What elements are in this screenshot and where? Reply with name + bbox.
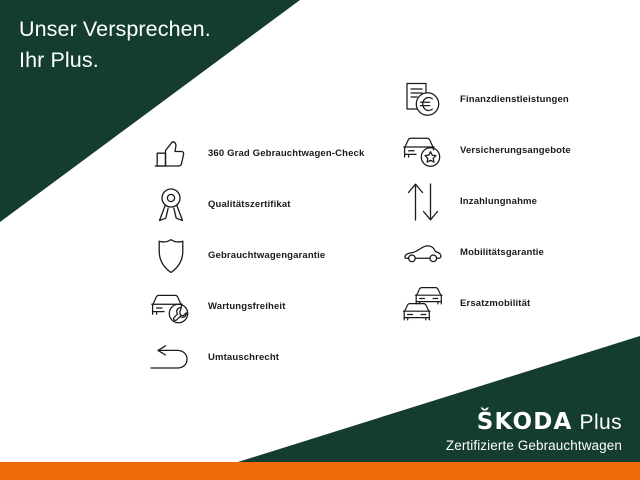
car-wrench-icon <box>148 285 194 329</box>
feature-label: Qualitätszertifikat <box>208 199 291 210</box>
feature-item-replacement: Ersatzmobilität <box>400 278 571 329</box>
feature-label: Ersatzmobilität <box>460 298 530 309</box>
document-euro-icon <box>400 78 446 122</box>
brand-plus-label: Plus <box>580 412 622 433</box>
headline-line-2: Ihr Plus. <box>19 45 319 76</box>
feature-label: Mobilitätsgarantie <box>460 247 544 258</box>
up-down-arrows-icon <box>400 180 446 224</box>
feature-label: Umtauschrecht <box>208 352 279 363</box>
feature-label: 360 Grad Gebrauchtwagen-Check <box>208 148 364 159</box>
brand-subtitle: Zertifizierte Gebrauchtwagen <box>446 439 622 453</box>
feature-label: Gebrauchtwagengarantie <box>208 250 325 261</box>
feature-label: Finanzdienstleistungen <box>460 94 569 105</box>
feature-item-check: 360 Grad Gebrauchtwagen-Check <box>148 128 364 179</box>
promo-banner: Unser Versprechen. Ihr Plus. 360 Grad Ge… <box>0 0 640 480</box>
feature-item-mobility: Mobilitätsgarantie <box>400 227 571 278</box>
page-title: Unser Versprechen. Ihr Plus. <box>19 14 319 76</box>
quality-seal-icon <box>148 183 194 227</box>
feature-item-warranty: Gebrauchtwagengarantie <box>148 230 364 281</box>
feature-item-insurance: Versicherungsangebote <box>400 125 571 176</box>
thumbs-up-icon <box>148 132 194 176</box>
feature-label: Inzahlungnahme <box>460 196 537 207</box>
feature-item-quality: Qualitätszertifikat <box>148 179 364 230</box>
feature-item-tradein: Inzahlungnahme <box>400 176 571 227</box>
feature-list-left: 360 Grad Gebrauchtwagen-Check Qualitätsz… <box>148 128 364 383</box>
skoda-wordmark: ŠKODA <box>477 411 573 434</box>
feature-item-financing: Finanzdienstleistungen <box>400 74 571 125</box>
brand-lockup: ŠKODA Plus Zertifizierte Gebrauchtwagen <box>446 411 622 453</box>
two-cars-icon <box>400 282 446 326</box>
feature-item-return: Umtauschrecht <box>148 332 364 383</box>
feature-label: Versicherungsangebote <box>460 145 571 156</box>
car-side-icon <box>400 231 446 275</box>
brand-title-row: ŠKODA Plus <box>446 411 622 434</box>
car-star-icon <box>400 129 446 173</box>
return-arrow-icon <box>148 336 194 380</box>
feature-list-right: Finanzdienstleistungen Versicherungsange… <box>400 74 571 329</box>
orange-bottom-bar <box>0 462 640 480</box>
feature-item-maintenance: Wartungsfreiheit <box>148 281 364 332</box>
shield-icon <box>148 234 194 278</box>
headline-line-1: Unser Versprechen. <box>19 14 319 45</box>
feature-label: Wartungsfreiheit <box>208 301 286 312</box>
